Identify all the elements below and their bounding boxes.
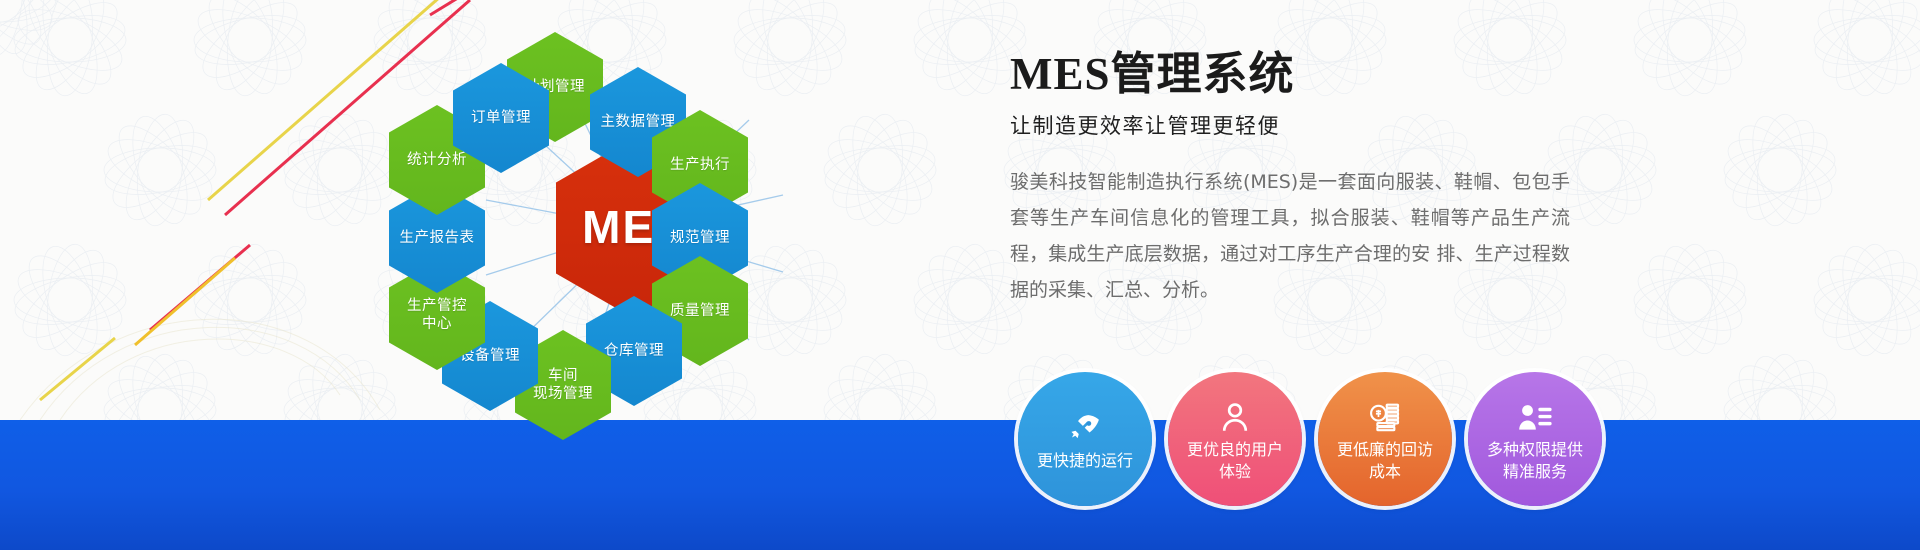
feature-badge-lower-cost[interactable]: 更低廉的回访成本: [1318, 372, 1452, 506]
feature-badge-permissions[interactable]: 多种权限提供精准服务: [1468, 372, 1602, 506]
id-card-icon: [1517, 395, 1553, 435]
background-lower-sheen: [0, 420, 1920, 550]
feature-badge-better-ux[interactable]: 更优良的用户体验: [1168, 372, 1302, 506]
feature-badge-label: 更优良的用户体验: [1177, 439, 1293, 482]
coins-icon: [1368, 395, 1402, 435]
hero-banner: MES 计划管理 主数据管理 生产执行 规范管理 质量管理 仓库管理 车间现场管…: [0, 0, 1920, 550]
mes-hex-diagram: MES 计划管理 主数据管理 生产执行 规范管理 质量管理 仓库管理 车间现场管…: [400, 10, 870, 490]
feature-badge-faster-operation[interactable]: 更快捷的运行: [1018, 372, 1152, 506]
hero-content: MES管理系统 让制造更效率让管理更轻便 骏美科技智能制造执行系统(MES)是一…: [1010, 50, 1610, 308]
user-icon: [1218, 395, 1252, 435]
feature-badge-row: 更快捷的运行 更优良的用户体验: [1018, 372, 1602, 506]
feature-badge-label: 更低廉的回访成本: [1327, 439, 1443, 482]
page-subtitle: 让制造更效率让管理更轻便: [1010, 110, 1610, 140]
feature-badge-label: 多种权限提供精准服务: [1477, 439, 1593, 482]
feature-badge-label: 更快捷的运行: [1027, 450, 1143, 472]
rocket-icon: [1068, 406, 1102, 446]
page-description: 骏美科技智能制造执行系统(MES)是一套面向服装、鞋帽、包包手套等生产车间信息化…: [1010, 164, 1570, 308]
page-title: MES管理系统: [1010, 50, 1610, 100]
